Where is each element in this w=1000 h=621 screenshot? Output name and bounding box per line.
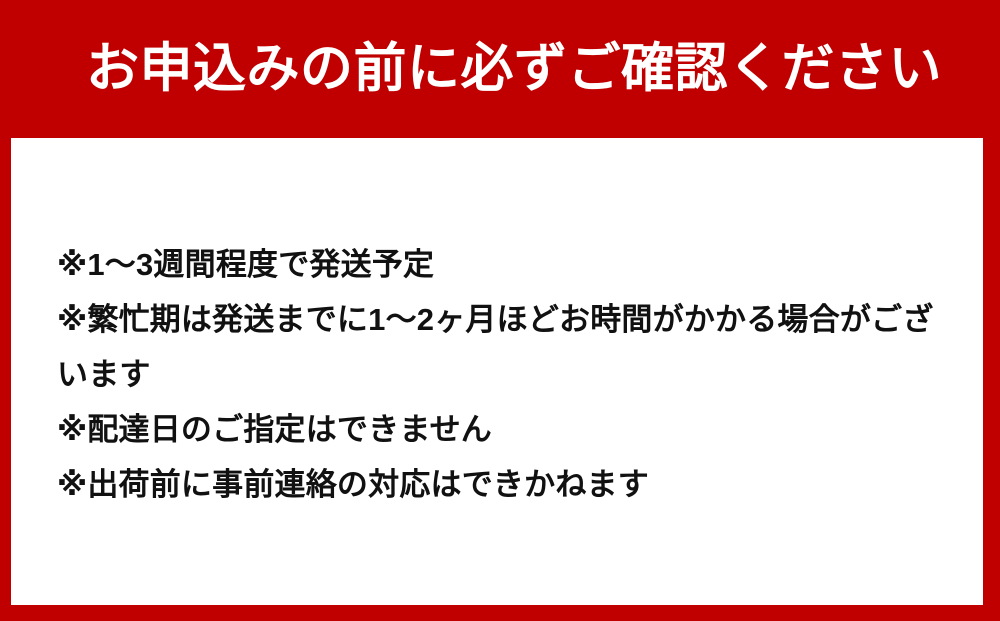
notice-item-shipping-window: ※1～3週間程度で発送予定 [57,237,959,292]
shipping-notice-card: お申込みの前に必ずご確認ください ※1～3週間程度で発送予定 ※繁忙期は発送まで… [0,0,1000,621]
notice-item-no-advance-contact: ※出荷前に事前連絡の対応はできかねます [57,457,959,512]
notice-list: ※1～3週間程度で発送予定 ※繁忙期は発送までに1～2ヶ月ほどお時間がかかる場合… [57,237,959,512]
notice-body-panel: ※1～3週間程度で発送予定 ※繁忙期は発送までに1～2ヶ月ほどお時間がかかる場合… [11,138,983,605]
notice-item-no-delivery-date: ※配達日のご指定はできません [57,402,959,457]
page-title: お申込みの前に必ずご確認ください [0,41,942,97]
notice-item-busy-season-delay: ※繁忙期は発送までに1～2ヶ月ほどお時間がかかる場合がございます [57,292,959,402]
notice-header-band: お申込みの前に必ずご確認ください [0,0,1000,138]
